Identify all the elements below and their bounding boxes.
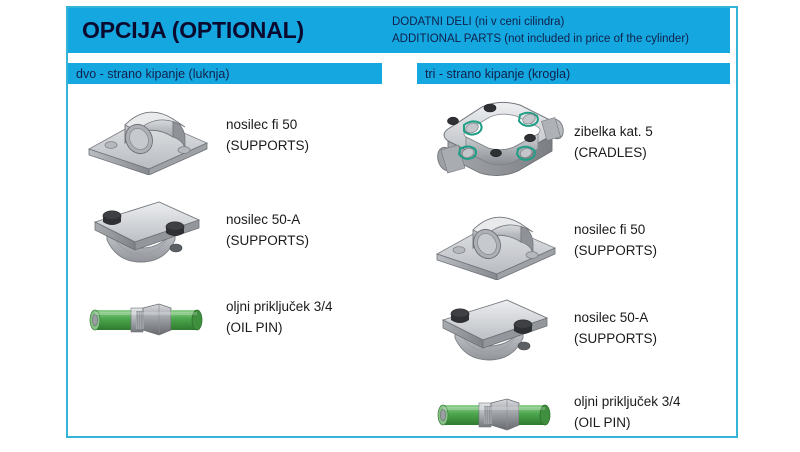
part-row[interactable]: oljni priključek 3/4(OIL PIN) [420, 374, 750, 452]
part-row[interactable]: zibelka kat. 5(CRADLES) [420, 88, 750, 198]
part-name-sl: nosilec fi 50 [574, 220, 750, 241]
support-50a-icon [429, 290, 561, 368]
part-label: nosilec 50-A(SUPPORTS) [570, 308, 750, 350]
support-fi50-icon [429, 202, 561, 280]
catalog-page: OPCIJA (OPTIONAL) DODATNI DELI (ni v cen… [0, 0, 800, 450]
header-note: DODATNI DELI (ni v ceni cilindra) ADDITI… [392, 8, 730, 53]
support-fi50-icon [81, 97, 213, 175]
column-right: zibelka kat. 5(CRADLES) nosilec [420, 88, 750, 452]
part-row[interactable]: nosilec fi 50(SUPPORTS) [420, 198, 750, 284]
cradle-icon [420, 91, 570, 196]
part-label: nosilec 50-A(SUPPORTS) [222, 210, 402, 252]
page-title: OPCIJA (OPTIONAL) [68, 8, 392, 53]
part-illustration [420, 202, 570, 280]
part-row[interactable]: nosilec fi 50(SUPPORTS) [72, 88, 402, 183]
part-illustration [420, 383, 570, 443]
part-label: oljni priključek 3/4(OIL PIN) [222, 297, 402, 339]
part-row[interactable]: nosilec 50-A(SUPPORTS) [72, 183, 402, 278]
support-50a-icon [81, 192, 213, 270]
part-name-sl: oljni priključek 3/4 [226, 297, 402, 318]
column-header-right: tri - strano kipanje (krogla) [417, 63, 730, 84]
part-name-sl: oljni priključek 3/4 [574, 392, 750, 413]
part-name-sl: zibelka kat. 5 [574, 122, 750, 143]
part-illustration [72, 288, 222, 348]
column-header-left: dvo - strano kipanje (luknja) [68, 63, 382, 84]
part-name-en: (OIL PIN) [574, 413, 750, 434]
part-name-en: (CRADLES) [574, 143, 750, 164]
header-note-en: ADDITIONAL PARTS (not included in price … [392, 31, 724, 48]
header-band: OPCIJA (OPTIONAL) DODATNI DELI (ni v cen… [68, 8, 730, 53]
part-name-en: (SUPPORTS) [574, 241, 750, 262]
part-illustration [72, 192, 222, 270]
part-illustration [420, 290, 570, 368]
part-name-sl: nosilec fi 50 [226, 115, 402, 136]
part-name-sl: nosilec 50-A [574, 308, 750, 329]
part-illustration [72, 97, 222, 175]
part-label: oljni priključek 3/4(OIL PIN) [570, 392, 750, 434]
part-name-sl: nosilec 50-A [226, 210, 402, 231]
part-row[interactable]: oljni priključek 3/4(OIL PIN) [72, 278, 402, 358]
oil-pin-icon [429, 383, 561, 443]
part-name-en: (SUPPORTS) [226, 231, 402, 252]
column-left: nosilec fi 50(SUPPORTS) nosilec 50-A(SUP… [72, 88, 402, 358]
part-label: nosilec fi 50(SUPPORTS) [222, 115, 402, 157]
part-name-en: (OIL PIN) [226, 318, 402, 339]
part-illustration [420, 91, 570, 196]
part-name-en: (SUPPORTS) [226, 136, 402, 157]
oil-pin-icon [81, 288, 213, 348]
part-row[interactable]: nosilec 50-A(SUPPORTS) [420, 284, 750, 374]
part-label: zibelka kat. 5(CRADLES) [570, 122, 750, 164]
part-label: nosilec fi 50(SUPPORTS) [570, 220, 750, 262]
part-name-en: (SUPPORTS) [574, 329, 750, 350]
header-note-sl: DODATNI DELI (ni v ceni cilindra) [392, 14, 724, 31]
